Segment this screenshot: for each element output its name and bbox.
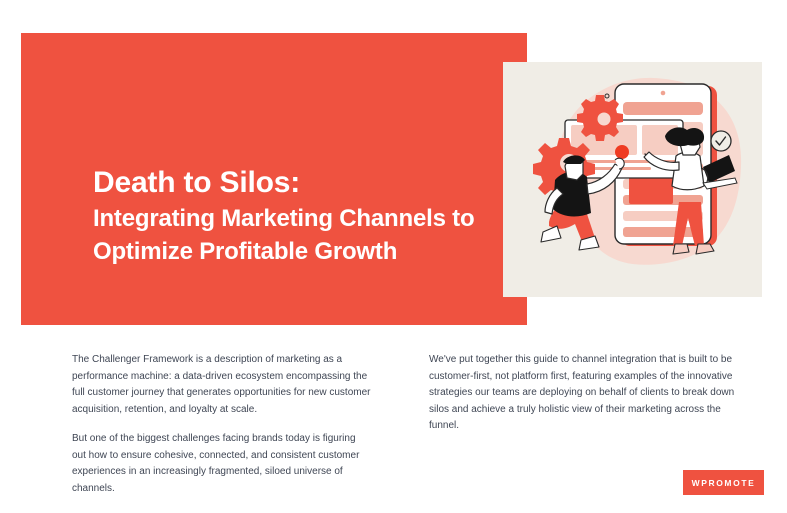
wpromote-logo: WPROMOTE [683, 470, 764, 495]
check-circle-icon [711, 131, 731, 151]
hero-red-block: Death to Silos: Integrating Marketing Ch… [21, 33, 527, 325]
title-line-1: Death to Silos: [93, 164, 513, 202]
paragraph: But one of the biggest challenges facing… [72, 431, 372, 497]
illustration-panel [503, 62, 762, 297]
paragraph: The Challenger Framework is a descriptio… [72, 352, 372, 418]
gear-small-icon [577, 95, 623, 141]
title-line-3: Optimize Profitable Growth [93, 235, 513, 268]
page-title: Death to Silos: Integrating Marketing Ch… [93, 164, 513, 268]
document-page: Death to Silos: Integrating Marketing Ch… [0, 0, 787, 513]
paragraph: We've put together this guide to channel… [429, 352, 739, 435]
body-column-left: The Challenger Framework is a descriptio… [72, 352, 372, 510]
cursor-dot [615, 145, 629, 159]
body-column-right: We've put together this guide to channel… [429, 352, 739, 448]
title-line-2: Integrating Marketing Channels to [93, 202, 513, 235]
logo-text: WPROMOTE [692, 478, 756, 488]
illustration-artwork [503, 62, 762, 297]
